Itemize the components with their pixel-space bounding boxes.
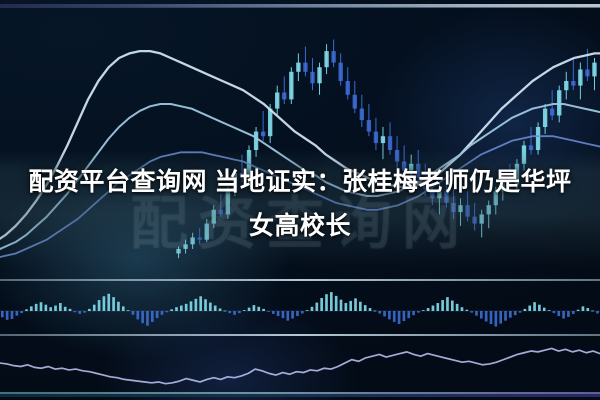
macd-bars-group xyxy=(0,292,600,326)
panel-divider-lower xyxy=(0,334,600,336)
trend-line-svg xyxy=(0,337,600,394)
headline-line-2: 女高校长 xyxy=(0,204,600,248)
trend-line-panel xyxy=(0,337,600,394)
top-highlight-rule-secondary xyxy=(0,7,600,8)
chart-banner: 配资查询网 配资平台查询网 当地证实：张桂梅老师仍是华坪 女高校长 xyxy=(0,0,600,400)
panel-divider-upper xyxy=(0,279,600,281)
macd-histogram-svg xyxy=(0,283,600,333)
headline-block: 配资平台查询网 当地证实：张桂梅老师仍是华坪 女高校长 xyxy=(0,160,600,248)
bottom-rule-shadow xyxy=(0,394,600,397)
macd-panel xyxy=(0,283,600,333)
trend-line-group xyxy=(0,348,600,383)
headline-line-1: 配资平台查询网 当地证实：张桂梅老师仍是华坪 xyxy=(0,160,600,204)
